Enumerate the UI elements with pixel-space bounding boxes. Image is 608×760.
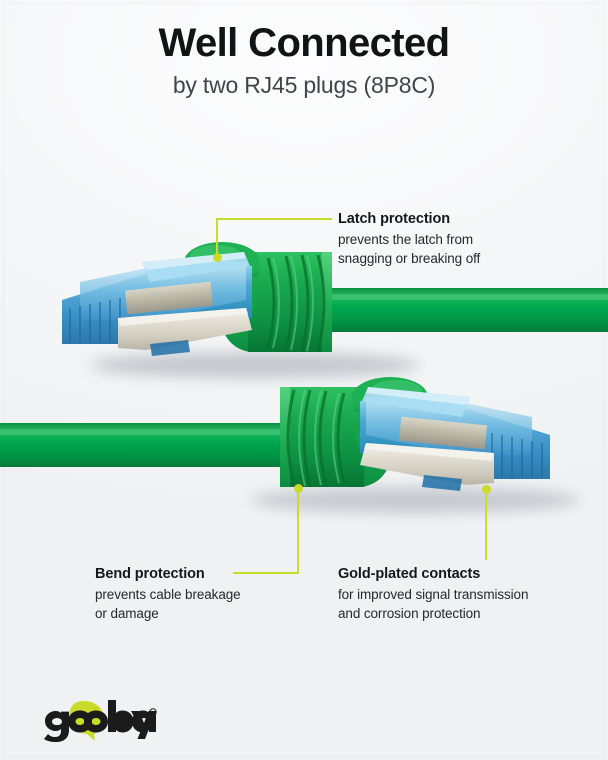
rj45-connector-bottom [0,377,550,491]
leader-line-gold-vertical [485,490,487,560]
callout-body-gold-line1: for improved signal transmission [338,585,588,604]
leader-line-latch-vertical [216,218,218,258]
product-infographic: Well Connected by two RJ45 plugs (8P8C) [0,0,608,760]
product-illustration [0,0,608,760]
leader-line-bend-vertical [297,489,299,574]
callout-text-gold: Gold-plated contacts for improved signal… [338,565,588,623]
callout-title-gold: Gold-plated contacts [338,565,588,583]
leader-line-latch-horizontal [216,218,332,220]
callout-body-latch-line2: snagging or breaking off [338,249,574,268]
callout-title-bend: Bend protection [95,565,315,583]
callout-title-latch: Latch protection [338,210,574,228]
callout-body-latch-line1: prevents the latch from [338,230,574,249]
goobay-logo: R [38,698,158,742]
callout-body-bend-line1: prevents cable breakage [95,585,315,604]
registered-trademark-letter: R [151,710,154,715]
callout-text-bend: Bend protection prevents cable breakage … [95,565,315,623]
cable-artwork [0,0,608,760]
callout-body-gold-line2: and corrosion protection [338,604,588,623]
callout-text-latch: Latch protection prevents the latch from… [338,210,574,268]
goobay-logo-mark: R [38,698,158,742]
callout-body-bend-line2: or damage [95,604,315,623]
